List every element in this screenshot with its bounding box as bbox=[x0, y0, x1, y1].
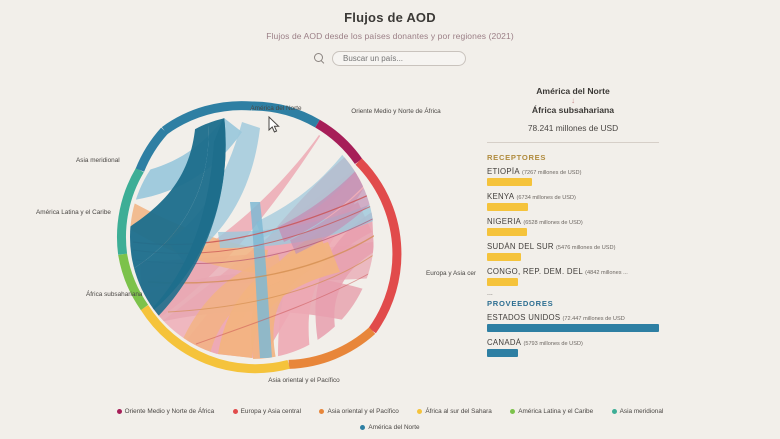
receptor-bar bbox=[487, 278, 518, 286]
receptor-amount: (4842 millones ... bbox=[585, 270, 628, 276]
page-subtitle: Flujos de AOD desde los países donantes … bbox=[0, 31, 780, 41]
proveedor-bar bbox=[487, 349, 518, 357]
search-icon bbox=[314, 53, 325, 64]
page-header: Flujos de AOD Flujos de AOD desde los pa… bbox=[0, 10, 780, 66]
legend-item[interactable]: Europa y Asia central bbox=[233, 405, 301, 418]
legend-label: América Latina y el Caribe bbox=[518, 408, 593, 415]
legend-item[interactable]: África al sur del Sahara bbox=[417, 405, 491, 418]
receptor-amount: (6528 millones de USD) bbox=[523, 220, 582, 226]
label-africa-subsahariana: África subsahariana bbox=[86, 289, 143, 298]
flow-target: África subsahariana bbox=[487, 105, 659, 115]
list-item[interactable]: ESTADOS UNIDOS (72.447 millones de USD bbox=[487, 313, 659, 332]
receptor-bar bbox=[487, 178, 532, 186]
label-oriente-medio: Oriente Medio y Norte de África bbox=[351, 106, 441, 115]
chord-diagram[interactable]: América del Norte Oriente Medio y Norte … bbox=[28, 82, 476, 392]
label-america-latina-caribe: América Latina y el Caribe bbox=[36, 209, 111, 216]
flow-source: América del Norte bbox=[487, 86, 659, 96]
label-europa-asia-central: Europa y Asia central bbox=[426, 270, 476, 277]
legend-label: Oriente Medio y Norte de África bbox=[125, 408, 215, 415]
receptor-name: ETIOPÍA bbox=[487, 167, 520, 176]
legend-label: Asia oriental y el Pacífico bbox=[327, 408, 398, 415]
receptor-name: SUDÁN DEL SUR bbox=[487, 242, 554, 251]
legend-swatch bbox=[233, 409, 238, 414]
list-item[interactable]: CANADÁ (5793 millones de USD) bbox=[487, 338, 659, 357]
receptor-amount: (6734 millones de USD) bbox=[517, 195, 576, 201]
legend-label: África al sur del Sahara bbox=[425, 408, 491, 415]
legend-swatch bbox=[319, 409, 324, 414]
list-item[interactable]: KENYA (6734 millones de USD) bbox=[487, 192, 659, 211]
receptores-ellipsis: ... bbox=[487, 290, 659, 297]
flow-value: 78.241 millones de USD bbox=[487, 123, 659, 133]
list-item[interactable]: NIGERIA (6528 millones de USD) bbox=[487, 217, 659, 236]
chord-svg[interactable]: América del Norte Oriente Medio y Norte … bbox=[28, 82, 476, 392]
proveedor-name: ESTADOS UNIDOS bbox=[487, 313, 560, 322]
legend-row-1: Oriente Medio y Norte de África Europa y… bbox=[0, 402, 780, 418]
list-item[interactable]: CONGO, REP. DEM. DEL (4842 millones ... bbox=[487, 267, 659, 286]
receptores-heading: RECEPTORES bbox=[487, 153, 659, 162]
proveedor-name: CANADÁ bbox=[487, 338, 521, 347]
page-title: Flujos de AOD bbox=[0, 10, 780, 25]
proveedor-amount: (5793 millones de USD) bbox=[523, 341, 582, 347]
legend-label: Asia meridional bbox=[620, 408, 664, 415]
receptor-amount: (5476 millones de USD) bbox=[556, 245, 615, 251]
legend-item[interactable]: Asia meridional bbox=[612, 405, 664, 418]
legend-label: América del Norte bbox=[368, 424, 419, 431]
legend: Oriente Medio y Norte de África Europa y… bbox=[0, 402, 780, 434]
receptor-bar bbox=[487, 228, 527, 236]
proveedores-heading: PROVEEDORES bbox=[487, 299, 659, 308]
panel-divider bbox=[487, 142, 659, 143]
legend-item[interactable]: América del Norte bbox=[360, 421, 419, 434]
label-america-del-norte: América del Norte bbox=[250, 105, 302, 112]
flow-arrow-icon: ↓ bbox=[487, 97, 659, 104]
receptor-bar bbox=[487, 253, 521, 261]
label-asia-meridional: Asia meridional bbox=[76, 157, 120, 164]
receptor-name: NIGERIA bbox=[487, 217, 521, 226]
receptor-amount: (7267 millones de USD) bbox=[522, 170, 581, 176]
proveedor-bar bbox=[487, 324, 659, 332]
legend-swatch bbox=[612, 409, 617, 414]
legend-item[interactable]: Oriente Medio y Norte de África bbox=[117, 405, 215, 418]
search-input[interactable] bbox=[332, 51, 466, 66]
search-bar bbox=[0, 51, 780, 66]
legend-label: Europa y Asia central bbox=[241, 408, 301, 415]
arc-america-del-norte-3[interactable] bbox=[140, 131, 165, 170]
receptor-name: KENYA bbox=[487, 192, 514, 201]
legend-row-2: América del Norte bbox=[0, 418, 780, 434]
legend-swatch bbox=[360, 425, 365, 430]
legend-swatch bbox=[510, 409, 515, 414]
receptor-bar bbox=[487, 203, 528, 211]
legend-item[interactable]: Asia oriental y el Pacífico bbox=[319, 405, 398, 418]
label-asia-oriental-pacifico: Asia oriental y el Pacífico bbox=[268, 377, 340, 384]
proveedor-amount: (72.447 millones de USD bbox=[563, 316, 625, 322]
arc-oriente-medio[interactable] bbox=[318, 124, 359, 162]
legend-swatch bbox=[117, 409, 122, 414]
details-panel: América del Norte ↓ África subsahariana … bbox=[487, 86, 659, 363]
list-item[interactable]: SUDÁN DEL SUR (5476 millones de USD) bbox=[487, 242, 659, 261]
legend-swatch bbox=[417, 409, 422, 414]
list-item[interactable]: ETIOPÍA (7267 millones de USD) bbox=[487, 167, 659, 186]
legend-item[interactable]: América Latina y el Caribe bbox=[510, 405, 593, 418]
receptor-name: CONGO, REP. DEM. DEL bbox=[487, 267, 583, 276]
